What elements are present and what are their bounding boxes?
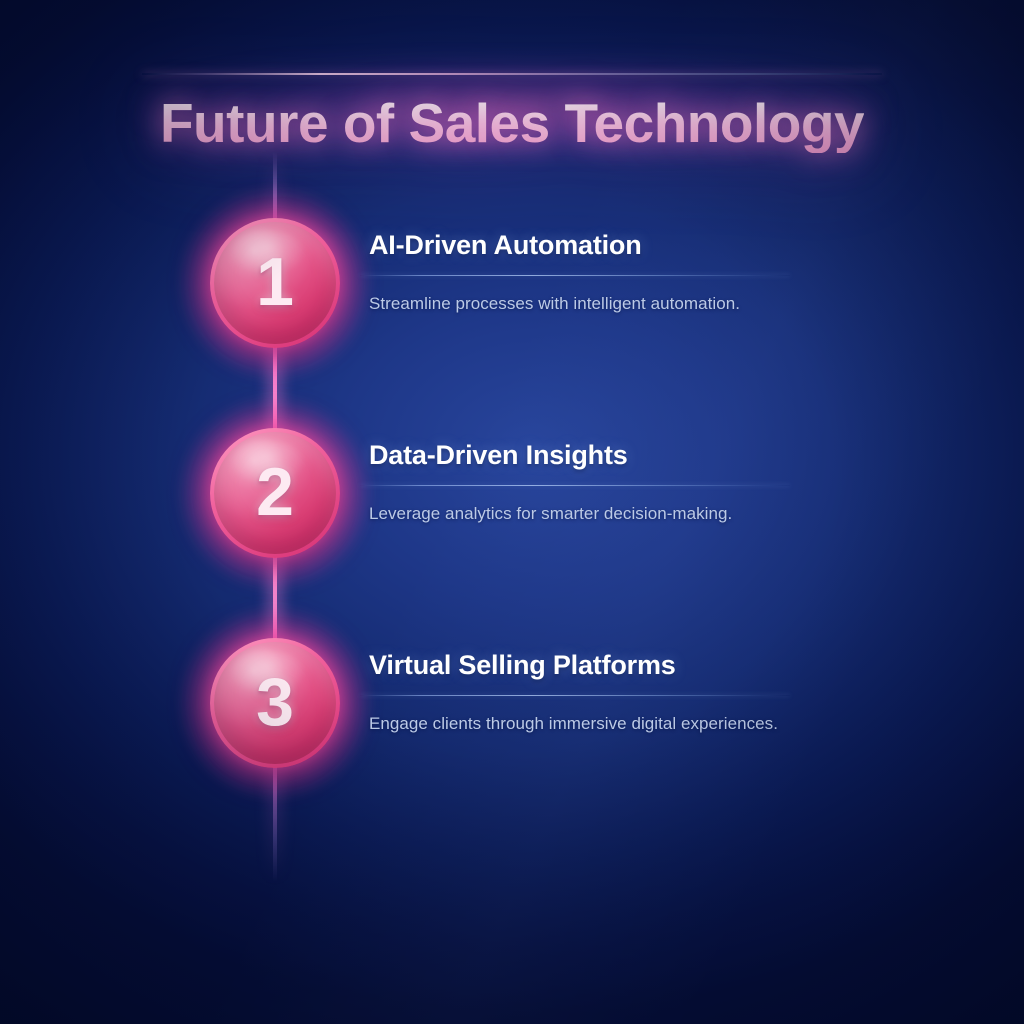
step-title: Data-Driven Insights [369, 440, 801, 471]
step-divider [360, 695, 790, 696]
step-title: AI-Driven Automation [369, 230, 801, 261]
step-number: 1 [210, 218, 340, 348]
step-number-badge[interactable]: 3 [210, 638, 340, 768]
step-title: Virtual Selling Platforms [369, 650, 801, 681]
step-divider [360, 275, 790, 276]
title-block: Future of Sales Technology [0, 58, 1024, 189]
step-number: 3 [210, 638, 340, 768]
title-divider [142, 73, 882, 75]
step-number: 2 [210, 428, 340, 558]
timeline-step-3[interactable]: 3 Virtual Selling Platforms Engage clien… [0, 638, 1024, 788]
step-number-badge[interactable]: 2 [210, 428, 340, 558]
step-content: Data-Driven Insights Leverage analytics … [369, 440, 801, 524]
infographic-canvas: Future of Sales Technology 1 AI-Driven A… [0, 0, 1024, 1024]
page-title: Future of Sales Technology [160, 95, 864, 153]
step-content: Virtual Selling Platforms Engage clients… [369, 650, 801, 734]
step-description: Engage clients through immersive digital… [369, 714, 801, 734]
step-description: Leverage analytics for smarter decision-… [369, 504, 801, 524]
step-description: Streamline processes with intelligent au… [369, 294, 801, 314]
step-content: AI-Driven Automation Streamline processe… [369, 230, 801, 314]
step-divider [360, 485, 790, 486]
timeline-step-2[interactable]: 2 Data-Driven Insights Leverage analytic… [0, 428, 1024, 578]
step-number-badge[interactable]: 1 [210, 218, 340, 348]
timeline-step-1[interactable]: 1 AI-Driven Automation Streamline proces… [0, 218, 1024, 368]
